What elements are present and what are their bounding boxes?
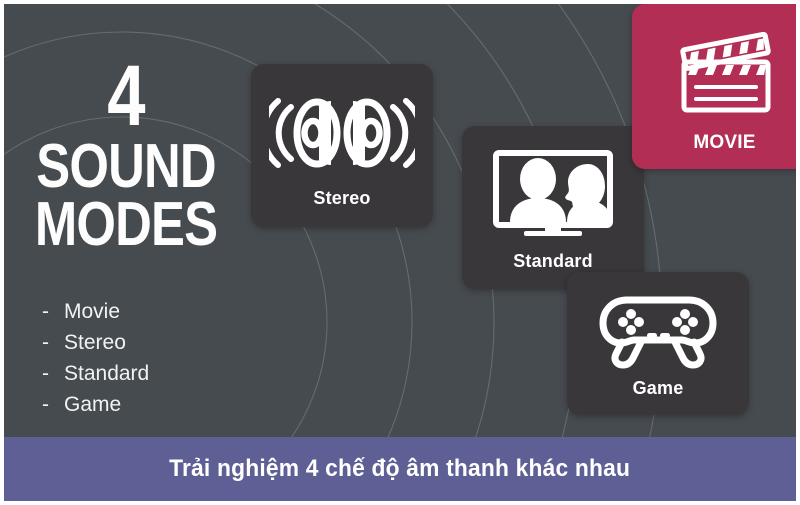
headline-number: 4 (35, 56, 217, 136)
caption-banner: Trải nghiệm 4 chế độ âm thanh khác nhau (4, 437, 796, 501)
list-dash: - (42, 296, 64, 327)
mode-card-label: Standard (462, 251, 644, 272)
mode-card-label: Stereo (251, 188, 433, 209)
promo-banner-image: 4 SOUND MODES - Movie - Stereo - Standar… (0, 0, 800, 505)
headline-block: 4 SOUND MODES (12, 56, 240, 254)
mode-card-movie[interactable]: MOVIE (632, 4, 796, 169)
list-dash: - (42, 389, 64, 420)
list-item-label: Stereo (64, 327, 126, 358)
caption-text: Trải nghiệm 4 chế độ âm thanh khác nhau (170, 455, 631, 483)
list-item-label: Standard (64, 358, 149, 389)
list-item: - Game (42, 389, 252, 420)
list-item: - Standard (42, 358, 252, 389)
list-dash: - (42, 358, 64, 389)
mode-card-stereo[interactable]: Stereo (251, 64, 433, 227)
stereo-speakers-icon (251, 90, 433, 176)
mode-card-game[interactable]: Game (567, 272, 749, 415)
headline-line-modes: MODES (33, 196, 220, 254)
list-item: - Movie (42, 296, 252, 327)
tv-two-people-icon (462, 148, 644, 240)
list-item-label: Movie (64, 296, 120, 327)
mode-list: - Movie - Stereo - Standard - Game (42, 296, 252, 420)
list-dash: - (42, 327, 64, 358)
list-item-label: Game (64, 389, 121, 420)
dark-backdrop: 4 SOUND MODES - Movie - Stereo - Standar… (4, 4, 796, 501)
clapperboard-icon (632, 32, 796, 116)
mode-card-label: Game (567, 378, 749, 399)
mode-card-standard[interactable]: Standard (462, 126, 644, 289)
list-item: - Stereo (42, 327, 252, 358)
gamepad-icon (567, 284, 749, 374)
mode-card-label: MOVIE (632, 132, 796, 154)
headline-line-sound: SOUND (33, 138, 220, 196)
